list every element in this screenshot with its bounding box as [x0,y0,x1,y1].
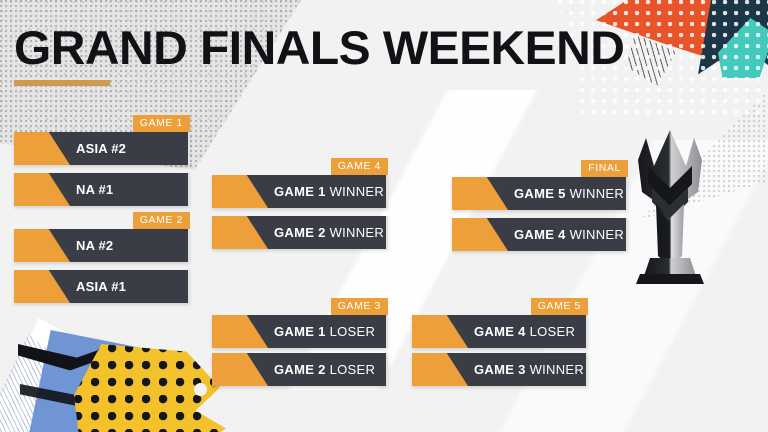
decoration-shape-yellow [74,344,226,432]
bracket-bar-source: GAME 4 [474,324,526,339]
bracket-bar[interactable]: GAME 4 WINNER [452,218,628,251]
bracket-bar-label: GAME 4 LOSER [412,324,575,339]
bracket-bar[interactable]: ASIA #1 [14,270,190,303]
bracket-bar[interactable]: GAME 1 LOSER [212,315,388,348]
bracket-tab-game3: GAME 3 [331,298,388,315]
bracket-tab-game1: GAME 1 [133,115,190,132]
bracket-bar-outcome: LOSER [326,324,375,339]
bracket-bar-source: GAME 5 [514,186,566,201]
bracket-bar[interactable]: NA #1 [14,173,190,206]
bracket-bar-label: NA #2 [14,238,113,253]
bracket-tab-final: FINAL [581,160,628,177]
bracket-bar-outcome: WINNER [566,186,624,201]
bracket-bar[interactable]: GAME 2 LOSER [212,353,388,386]
decoration-dot-hole [194,383,207,396]
bracket-bar-source: GAME 1 [274,184,326,199]
bracket-bar-outcome: WINNER [326,225,384,240]
decoration-hatch-blue [0,334,78,432]
bracket-bar[interactable]: NA #2 [14,229,190,262]
decoration-chevron-upper [18,344,102,378]
decoration-shape-blue [18,330,144,432]
bracket-bar-outcome: LOSER [526,324,575,339]
bracket-bar-source: GAME 3 [474,362,526,377]
title-underline [14,80,110,86]
bracket-bar-source: GAME 2 [274,362,326,377]
page-title: GRAND FINALS WEEKEND [14,24,624,71]
bracket-bar-label: GAME 1 WINNER [212,184,384,199]
decoration-halftone-dots-yellow [74,344,226,432]
decoration-chevron-lower [20,384,100,410]
bracket-bar-outcome: LOSER [326,362,375,377]
bracket-bars-game1: ASIA #2 NA #1 [14,132,190,206]
bracket-bar-outcome: WINNER [326,184,384,199]
bracket-bar-label: GAME 4 WINNER [452,227,624,242]
bracket-bar[interactable]: GAME 4 LOSER [412,315,588,348]
page-title-block: GRAND FINALS WEEKEND [14,24,612,86]
bracket-bar-label: NA #1 [14,182,113,197]
decoration-shape-navy [698,0,768,78]
bracket-bar[interactable]: GAME 5 WINNER [452,177,628,210]
bracket-bars-final: GAME 5 WINNER GAME 4 WINNER [452,177,628,251]
bracket-bar[interactable]: GAME 3 WINNER [412,353,588,386]
bracket-bar-outcome: WINNER [566,227,624,242]
bracket-bar-label: ASIA #1 [14,279,126,294]
bracket-bar-source: GAME 2 [274,225,326,240]
decoration-shape-teal [718,18,768,78]
bracket-bar-label: GAME 3 WINNER [412,362,584,377]
bracket-bar-outcome: WINNER [526,362,584,377]
bracket-bars-game2: NA #2 ASIA #1 [14,229,190,303]
bracket-bar[interactable]: GAME 1 WINNER [212,175,388,208]
bracket-bar-source: GAME 1 [274,324,326,339]
bracket-bar-label: GAME 2 LOSER [212,362,375,377]
bracket-bar[interactable]: ASIA #2 [14,132,190,165]
bracket-bar-label: GAME 2 WINNER [212,225,384,240]
bracket-bars-game4: GAME 1 WINNER GAME 2 WINNER [212,175,388,249]
bracket-bars-game5: GAME 4 LOSER GAME 3 WINNER [412,315,588,386]
bracket-tab-game4: GAME 4 [331,158,388,175]
decoration-hatch-lines [626,34,676,86]
bracket-tab-game2: GAME 2 [133,212,190,229]
bracket-bar-label: ASIA #2 [14,141,126,156]
decoration-shape-white [0,318,106,432]
bracket-bar-label: GAME 5 WINNER [452,186,624,201]
bracket-bars-game3: GAME 1 LOSER GAME 2 LOSER [212,315,388,386]
bracket-bar-label: GAME 1 LOSER [212,324,375,339]
trophy-icon [628,126,712,286]
bracket-bar-source: GAME 4 [514,227,566,242]
bracket-tab-game5: GAME 5 [531,298,588,315]
grand-finals-bracket-graphic: GRAND FINALS WEEKEND [0,0,768,432]
bracket-bar[interactable]: GAME 2 WINNER [212,216,388,249]
